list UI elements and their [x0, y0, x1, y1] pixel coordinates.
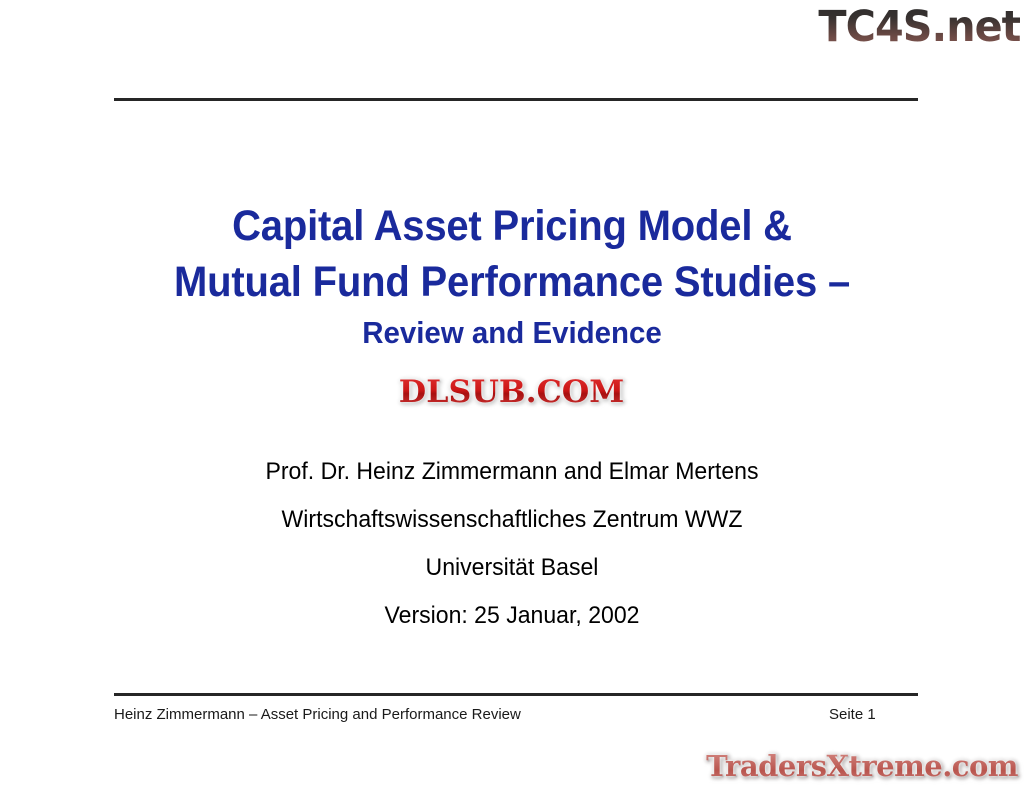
presentation-slide: TC4S.net Capital Asset Pricing Model & M… — [0, 0, 1024, 791]
dlsub-watermark: DLSUB.COM — [0, 374, 1024, 410]
author-institute: Wirtschaftswissenschaftliches Zentrum WW… — [20, 496, 1003, 544]
slide-subtitle: Review and Evidence — [26, 312, 999, 354]
slide-title-line-2: Mutual Fund Performance Studies – — [36, 254, 988, 310]
author-names: Prof. Dr. Heinz Zimmermann and Elmar Mer… — [20, 448, 1003, 496]
document-version: Version: 25 Januar, 2002 — [20, 592, 1003, 640]
tc4s-watermark-logo: TC4S.net — [818, 2, 1020, 52]
author-university: Universität Basel — [20, 544, 1003, 592]
tradersxtreme-banner-text: TradersXtreme.com — [706, 747, 1018, 785]
footer-page-number: Seite 1 — [829, 705, 876, 725]
slide-title-block: Capital Asset Pricing Model & Mutual Fun… — [0, 198, 1024, 354]
tradersxtreme-banner: TradersXtreme.com — [706, 747, 1018, 785]
footer-title-text: Heinz Zimmermann – Asset Pricing and Per… — [114, 705, 521, 725]
dlsub-watermark-text: DLSUB.COM — [399, 374, 625, 410]
author-affiliation-block: Prof. Dr. Heinz Zimmermann and Elmar Mer… — [0, 448, 1024, 640]
slide-title-line-1: Capital Asset Pricing Model & — [36, 198, 988, 254]
footer-divider-rule — [114, 693, 918, 696]
header-divider-rule — [114, 98, 918, 101]
